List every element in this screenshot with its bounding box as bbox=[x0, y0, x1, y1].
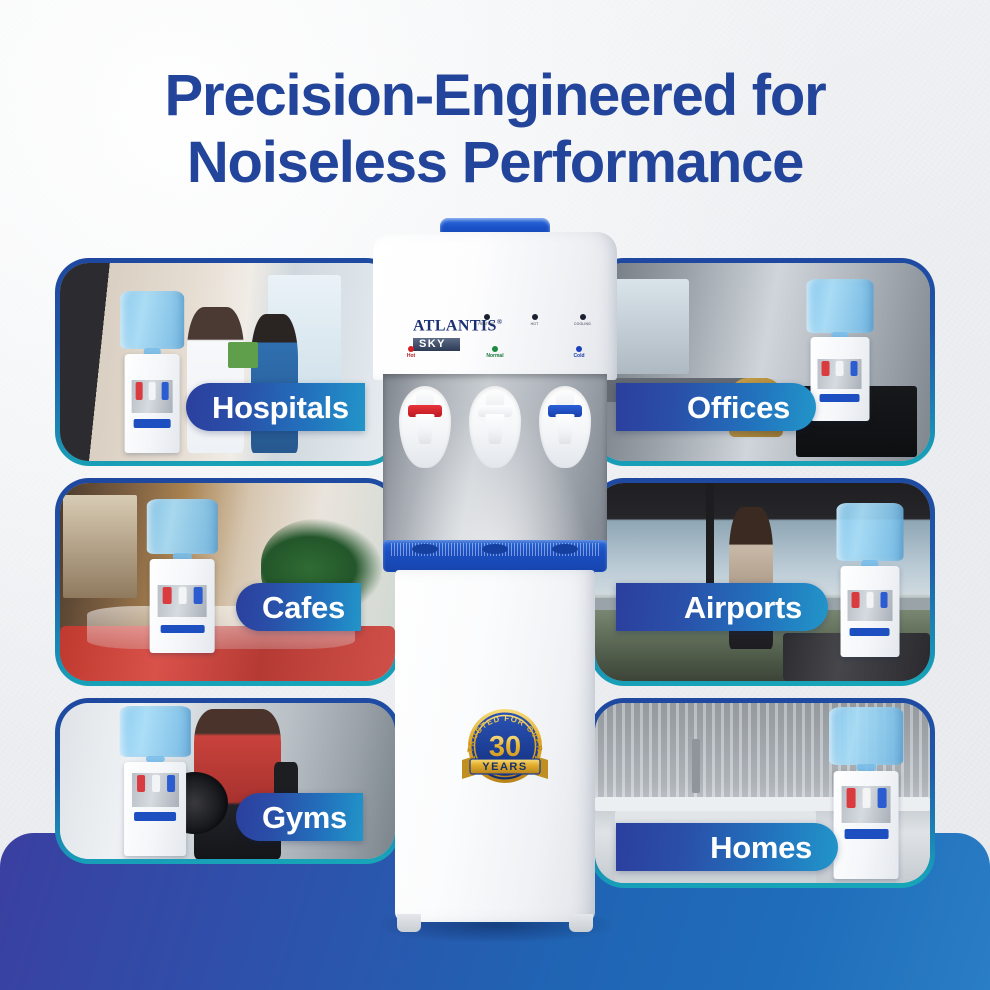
use-case-label-cafes: Cafes bbox=[262, 592, 345, 623]
headline-line-1: Precision-Engineered for bbox=[0, 62, 990, 129]
tap-label-group: Hot Normal Cold bbox=[369, 346, 621, 359]
tap-label-text-hot: Hot bbox=[383, 353, 439, 359]
card-image-offices bbox=[595, 263, 930, 461]
use-case-label-hospitals: Hospitals bbox=[212, 392, 349, 423]
water-bottle bbox=[147, 499, 217, 555]
tap-dot-normal bbox=[492, 346, 498, 352]
led-dot-cooling bbox=[580, 314, 586, 320]
mini-dispenser-gym bbox=[120, 706, 190, 856]
water-bottle bbox=[806, 279, 873, 333]
use-case-label-gyms: Gyms bbox=[262, 802, 347, 833]
water-bottle bbox=[120, 291, 184, 349]
badge-number: 30 bbox=[489, 731, 521, 763]
tap-hot-indicator bbox=[163, 587, 171, 604]
led-dot-heating bbox=[484, 314, 490, 320]
kitchen-faucet bbox=[692, 739, 700, 793]
tap-cold-indicator bbox=[880, 592, 888, 608]
dispenser-unit bbox=[125, 354, 180, 453]
use-case-label-offices: Offices bbox=[687, 392, 790, 423]
drip-tray bbox=[819, 394, 859, 402]
use-case-pill-gyms[interactable]: Gyms bbox=[236, 793, 363, 841]
dispenser-foot-left bbox=[397, 914, 421, 932]
tap-label-text-normal: Normal bbox=[467, 353, 523, 359]
dispenser-drip-tray bbox=[383, 540, 607, 572]
led-label-hot: HOT bbox=[518, 322, 551, 326]
prop-clipboard bbox=[228, 342, 258, 368]
tap-dot-cold bbox=[576, 346, 582, 352]
use-case-pill-hospitals[interactable]: Hospitals bbox=[186, 383, 365, 431]
tap-label-hot: Hot bbox=[383, 346, 439, 359]
dispenser-unit bbox=[125, 762, 187, 856]
mini-dispenser-airport bbox=[836, 503, 903, 657]
promo-poster: Precision-Engineered for Noiseless Perfo… bbox=[0, 0, 990, 990]
headline-line-2: Noiseless Performance bbox=[0, 129, 990, 196]
tap-cold-indicator bbox=[878, 788, 886, 808]
status-led-heating: HEATING bbox=[470, 314, 503, 326]
tap-normal-indicator bbox=[149, 382, 156, 400]
person-doctor bbox=[187, 307, 244, 454]
use-case-card-hospitals[interactable] bbox=[55, 258, 400, 466]
dispenser-foot-right bbox=[569, 914, 593, 932]
tap-hot-indicator bbox=[847, 788, 855, 808]
tap-hot-indicator bbox=[852, 592, 860, 608]
status-led-hot: HOT bbox=[518, 314, 551, 326]
tap-normal-indicator bbox=[866, 592, 874, 608]
drip-tray bbox=[850, 628, 890, 636]
tap-hot-indicator bbox=[822, 361, 830, 376]
use-case-card-offices[interactable] bbox=[590, 258, 935, 466]
dispenser-tap-panel bbox=[383, 374, 607, 546]
led-dot-hot bbox=[532, 314, 538, 320]
dispenser-unit bbox=[810, 337, 869, 421]
mini-dispenser-hospital bbox=[120, 291, 184, 453]
drip-tray bbox=[134, 419, 171, 428]
tap-hot-indicator bbox=[136, 382, 143, 400]
use-case-label-homes: Homes bbox=[710, 832, 812, 863]
tap-normal[interactable] bbox=[469, 386, 521, 468]
tap-hot[interactable] bbox=[399, 386, 451, 468]
tap-cold-indicator bbox=[167, 775, 175, 792]
hero-product-dispenser[interactable]: ATLANTIS® SKY HEATING HOT COOLING bbox=[369, 218, 621, 936]
mini-dispenser-home bbox=[830, 707, 904, 880]
status-led-group: HEATING HOT COOLING bbox=[470, 314, 599, 326]
trust-badge-svg: TRUSTED FOR OVER 30 YEARS bbox=[455, 700, 555, 792]
drip-tray bbox=[134, 812, 176, 820]
dispenser-feet bbox=[395, 914, 595, 932]
mini-dispenser-cafe bbox=[147, 499, 217, 653]
bottle-neck bbox=[857, 764, 876, 771]
tap-dot-hot bbox=[408, 346, 414, 352]
drip-tray-hole bbox=[412, 544, 438, 554]
drip-tray bbox=[160, 625, 204, 633]
dispenser-unit bbox=[834, 771, 899, 880]
tap-normal-indicator bbox=[836, 361, 844, 376]
led-label-heating: HEATING bbox=[470, 322, 503, 326]
card-image-cafes bbox=[60, 483, 395, 681]
card-image-hospitals bbox=[60, 263, 395, 461]
drip-tray bbox=[844, 829, 888, 839]
drip-tray-hole bbox=[552, 544, 578, 554]
tap-cold-indicator bbox=[194, 587, 202, 604]
status-led-cooling: COOLING bbox=[566, 314, 599, 326]
tap-hot-indicator bbox=[137, 775, 145, 792]
water-bottle bbox=[836, 503, 903, 562]
dispenser-unit bbox=[840, 566, 899, 657]
led-label-cooling: COOLING bbox=[566, 322, 599, 326]
page-title: Precision-Engineered for Noiseless Perfo… bbox=[0, 62, 990, 196]
tap-label-cold: Cold bbox=[551, 346, 607, 359]
use-case-label-airports: Airports bbox=[684, 592, 802, 623]
badge-ribbon-text: YEARS bbox=[482, 761, 527, 773]
mini-dispenser-office bbox=[806, 279, 873, 422]
drip-tray-hole bbox=[482, 544, 508, 554]
tap-cold-indicator bbox=[162, 382, 169, 400]
tap-normal-indicator bbox=[862, 788, 870, 808]
use-case-pill-cafes[interactable]: Cafes bbox=[236, 583, 361, 631]
dispenser-unit bbox=[150, 559, 215, 653]
tap-label-normal: Normal bbox=[467, 346, 523, 359]
water-bottle bbox=[830, 707, 904, 766]
card-image-airports bbox=[595, 483, 930, 681]
use-case-pill-homes[interactable]: Homes bbox=[616, 823, 838, 871]
tap-normal-indicator bbox=[178, 587, 186, 604]
tap-label-text-cold: Cold bbox=[551, 353, 607, 359]
use-case-pill-offices[interactable]: Offices bbox=[616, 383, 816, 431]
tap-normal-indicator bbox=[152, 775, 160, 792]
use-case-card-airports[interactable] bbox=[590, 478, 935, 686]
cafe-window bbox=[63, 495, 137, 598]
use-case-card-cafes[interactable] bbox=[55, 478, 400, 686]
water-bottle bbox=[120, 706, 190, 757]
tap-cold-indicator bbox=[850, 361, 858, 376]
trust-badge: TRUSTED FOR OVER 30 YEARS bbox=[455, 700, 555, 792]
use-case-pill-airports[interactable]: Airports bbox=[616, 583, 828, 631]
tap-cold[interactable] bbox=[539, 386, 591, 468]
